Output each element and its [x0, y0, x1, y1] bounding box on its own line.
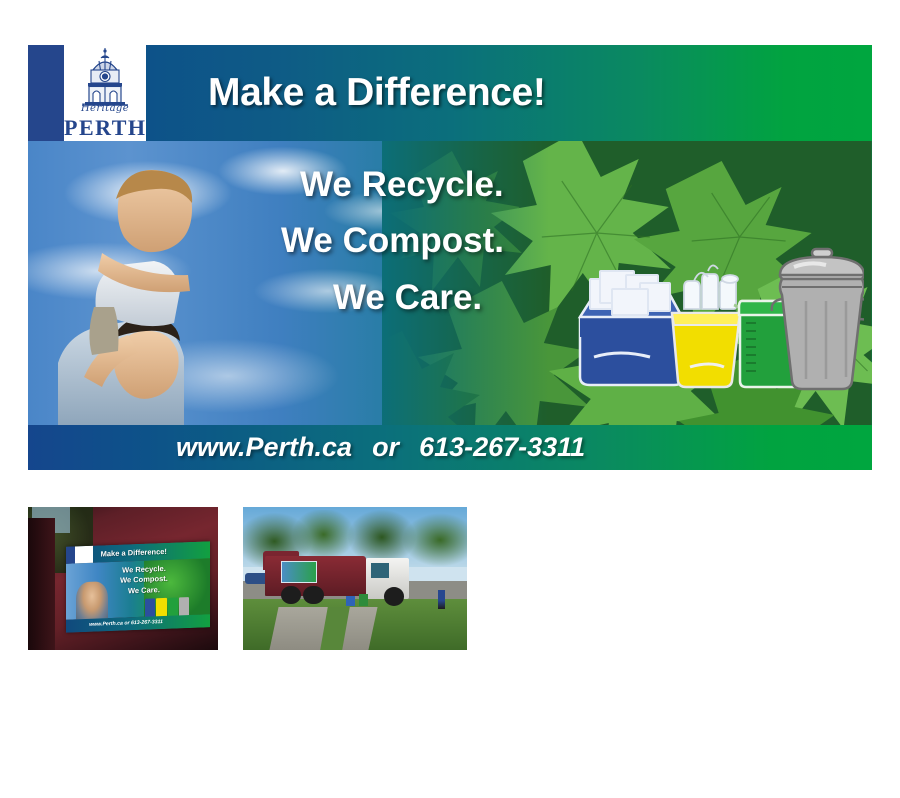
decal-contact: www.Perth.ca or 613-267-3311	[89, 620, 163, 629]
website-text: www.Perth.ca	[176, 432, 352, 462]
contact-line: www.Perth.caor613-267-3311	[176, 432, 585, 463]
logo-city-name: PERTH	[64, 115, 146, 141]
decal-blue-block	[66, 547, 75, 564]
banner-header: Heritage PERTH Make a Difference!	[28, 45, 872, 141]
street-scene	[243, 507, 467, 650]
header-gradient-bar: Make a Difference!	[146, 45, 872, 141]
decal-logo-block	[75, 546, 94, 564]
decal-slogan: We Recycle. We Compost. We Care.	[109, 563, 178, 598]
decal-title: Make a Difference!	[101, 547, 167, 559]
applied-banner-decal: We Recycle. We Compost. We Care. Make a …	[66, 541, 210, 632]
curbside-blue-box	[346, 596, 355, 606]
header-blue-block	[28, 45, 64, 141]
truck-side-banner-photo[interactable]: We Recycle. We Compost. We Care. Make a …	[28, 507, 218, 650]
person-on-street	[438, 590, 445, 609]
blue-box-paper-bin	[580, 271, 682, 385]
leaf-blend-overlay	[382, 141, 548, 425]
truck-front-edge	[28, 518, 55, 650]
waste-containers-illustration	[574, 239, 864, 399]
heritage-perth-logo: Heritage PERTH	[64, 45, 146, 141]
curbside-green-bin	[359, 594, 368, 605]
or-text: or	[372, 432, 399, 462]
banner-footer: www.Perth.caor613-267-3311	[28, 425, 872, 470]
truck-on-street-photo[interactable]	[243, 507, 467, 650]
logo-heritage-text: Heritage	[64, 103, 146, 114]
banner-body: We Recycle. We Compost. We Care.	[28, 141, 872, 425]
wheel-front	[384, 587, 404, 606]
cab-window	[371, 563, 389, 579]
recycling-campaign-banner: Heritage PERTH Make a Difference!	[28, 45, 872, 470]
wheel-rear-2	[303, 586, 323, 605]
avatar-father-and-son	[28, 141, 328, 425]
banner-headline: Make a Difference!	[208, 71, 545, 115]
phone-text: 613-267-3311	[419, 432, 585, 462]
yellow-box-container-bin	[672, 265, 744, 387]
clock-tower-bandstand-icon	[64, 47, 146, 109]
truck-banner-decal	[281, 561, 317, 583]
